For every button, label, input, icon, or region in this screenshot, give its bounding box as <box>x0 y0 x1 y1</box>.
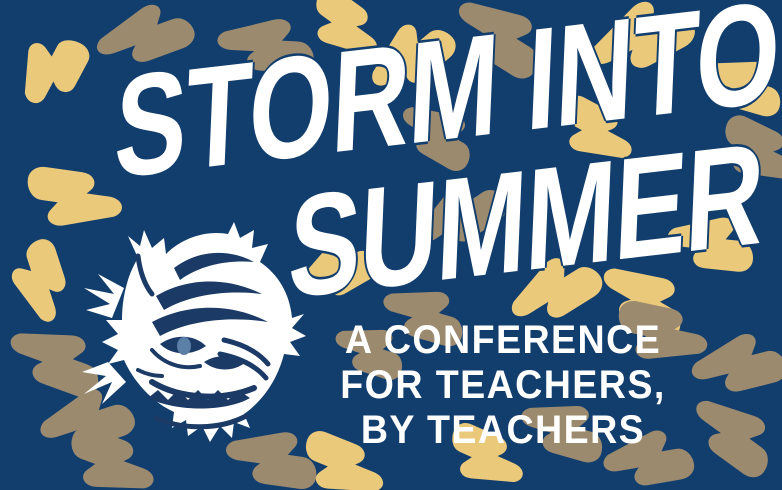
subtitle-line-3: BY TEACHERS <box>329 408 677 453</box>
lightning-bolt-icon <box>680 384 782 483</box>
storm-into-summer-poster: STORM INTO SUMMER A CONFERENCE FOR TEACH… <box>0 0 782 490</box>
headline-block: STORM INTO SUMMER <box>0 0 782 300</box>
subtitle-line-1: A CONFERENCE <box>329 318 677 363</box>
subtitle-block: A CONFERENCE FOR TEACHERS, BY TEACHERS <box>318 318 688 452</box>
subtitle-line-2: FOR TEACHERS, <box>329 363 677 408</box>
